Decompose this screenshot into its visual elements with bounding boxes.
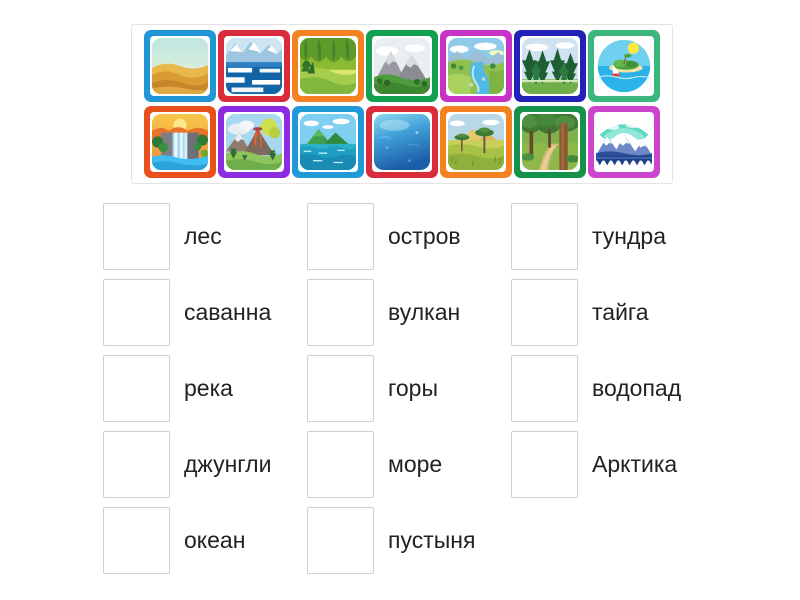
savanna-image	[448, 114, 504, 170]
taiga-tile-inner	[520, 36, 580, 96]
answer-pair: тундра	[511, 198, 715, 274]
island-tile[interactable]	[588, 30, 660, 102]
volcano-image	[226, 114, 282, 170]
word-label: река	[184, 377, 233, 400]
river-tile[interactable]	[440, 30, 512, 102]
savanna-tile-inner	[446, 112, 506, 172]
answer-pair: саванна	[103, 274, 307, 350]
volcano-tile-inner	[224, 112, 284, 172]
sea-tile-inner	[298, 112, 358, 172]
answer-grid: лес остров тундра саванна вулкан тайга р…	[103, 198, 743, 578]
answer-pair: пустыня	[307, 502, 511, 578]
jungle-image	[300, 38, 356, 94]
drop-target[interactable]	[103, 431, 170, 498]
drop-target[interactable]	[511, 431, 578, 498]
word-label: океан	[184, 529, 245, 552]
answer-pair: вулкан	[307, 274, 511, 350]
word-label: водопад	[592, 377, 681, 400]
forest-tile-inner	[520, 112, 580, 172]
arctic-tile[interactable]	[218, 30, 290, 102]
answer-pair: река	[103, 350, 307, 426]
tundra-tile-inner	[594, 112, 654, 172]
answer-pair: лес	[103, 198, 307, 274]
answer-pair: водопад	[511, 350, 715, 426]
word-label: лес	[184, 225, 222, 248]
ocean-tile-inner	[372, 112, 432, 172]
waterfall-tile[interactable]	[144, 106, 216, 178]
tile-row-2	[144, 106, 660, 178]
word-label: джунгли	[184, 453, 271, 476]
desert-image	[152, 38, 208, 94]
word-label: горы	[388, 377, 438, 400]
drop-target[interactable]	[103, 355, 170, 422]
answer-pair: море	[307, 426, 511, 502]
volcano-tile[interactable]	[218, 106, 290, 178]
jungle-tile[interactable]	[292, 30, 364, 102]
drop-target[interactable]	[103, 203, 170, 270]
savanna-tile[interactable]	[440, 106, 512, 178]
drop-target[interactable]	[307, 279, 374, 346]
waterfall-tile-inner	[150, 112, 210, 172]
tundra-tile[interactable]	[588, 106, 660, 178]
drop-target[interactable]	[103, 507, 170, 574]
word-label: море	[388, 453, 442, 476]
image-tile-panel	[131, 24, 673, 184]
island-tile-inner	[594, 36, 654, 96]
mountains-image	[374, 38, 430, 94]
ocean-tile[interactable]	[366, 106, 438, 178]
taiga-tile[interactable]	[514, 30, 586, 102]
word-label: тундра	[592, 225, 666, 248]
drop-target[interactable]	[511, 279, 578, 346]
forest-tile[interactable]	[514, 106, 586, 178]
word-label: вулкан	[388, 301, 460, 324]
drop-target[interactable]	[103, 279, 170, 346]
word-label: остров	[388, 225, 461, 248]
ocean-image	[374, 114, 430, 170]
answer-pair: джунгли	[103, 426, 307, 502]
river-tile-inner	[446, 36, 506, 96]
answer-pair: тайга	[511, 274, 715, 350]
mountains-tile[interactable]	[366, 30, 438, 102]
arctic-image	[226, 38, 282, 94]
river-image	[448, 38, 504, 94]
taiga-image	[522, 38, 578, 94]
tundra-image	[596, 114, 652, 170]
word-label: Арктика	[592, 453, 677, 476]
answer-pair: Арктика	[511, 426, 715, 502]
desert-tile[interactable]	[144, 30, 216, 102]
word-label: саванна	[184, 301, 271, 324]
mountains-tile-inner	[372, 36, 432, 96]
drop-target[interactable]	[511, 203, 578, 270]
island-image	[596, 38, 652, 94]
drop-target[interactable]	[307, 203, 374, 270]
word-label: тайга	[592, 301, 649, 324]
arctic-tile-inner	[224, 36, 284, 96]
drop-target[interactable]	[307, 507, 374, 574]
answer-pair: горы	[307, 350, 511, 426]
desert-tile-inner	[150, 36, 210, 96]
answer-pair: остров	[307, 198, 511, 274]
forest-image	[522, 114, 578, 170]
jungle-tile-inner	[298, 36, 358, 96]
answer-pair: океан	[103, 502, 307, 578]
tile-row-1	[144, 30, 660, 102]
sea-image	[300, 114, 356, 170]
word-label: пустыня	[388, 529, 475, 552]
drop-target[interactable]	[307, 355, 374, 422]
drop-target[interactable]	[511, 355, 578, 422]
sea-tile[interactable]	[292, 106, 364, 178]
waterfall-image	[152, 114, 208, 170]
drop-target[interactable]	[307, 431, 374, 498]
